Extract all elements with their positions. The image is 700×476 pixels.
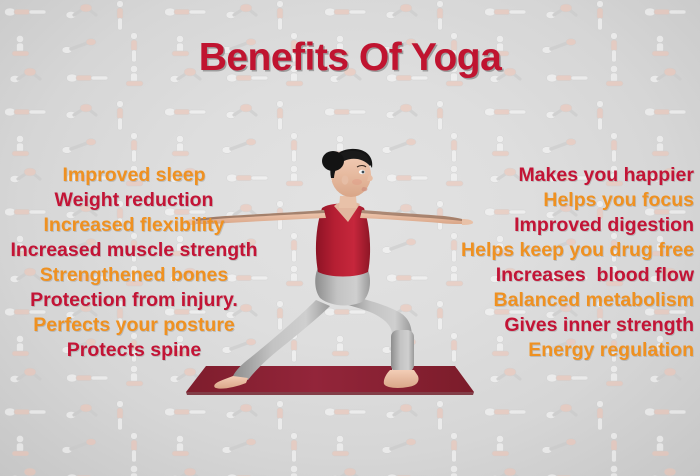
benefit-item: Gives inner strength: [432, 313, 694, 338]
benefit-item: Energy regulation: [432, 338, 694, 363]
yoga-benefits-poster: Benefits Of Yoga: [0, 0, 700, 476]
benefit-item: Increased muscle strength: [0, 238, 268, 263]
benefit-item: Helps you focus: [432, 188, 694, 213]
benefit-item: Improved sleep: [0, 163, 268, 188]
benefit-item: Balanced metabolism: [432, 288, 694, 313]
benefit-item: Increased flexibility: [0, 213, 268, 238]
benefit-item: Perfects your posture: [0, 313, 268, 338]
benefit-item: Strengthened bones: [0, 263, 268, 288]
benefits-right-column: Makes you happier Helps you focus Improv…: [432, 163, 700, 363]
front-foot: [384, 370, 419, 388]
neck: [339, 196, 357, 208]
benefit-item: Makes you happier: [432, 163, 694, 188]
benefit-item: Protection from injury.: [0, 288, 268, 313]
benefits-left-column: Improved sleep Weight reduction Increase…: [0, 163, 268, 363]
benefit-item: Weight reduction: [0, 188, 268, 213]
benefit-item: Protects spine: [0, 338, 268, 363]
hair-bun: [322, 151, 344, 171]
head: [322, 149, 373, 197]
benefit-item: Increases blood flow: [432, 263, 694, 288]
benefit-item: Improved digestion: [432, 213, 694, 238]
benefit-item: Helps keep you drug free: [432, 238, 694, 263]
